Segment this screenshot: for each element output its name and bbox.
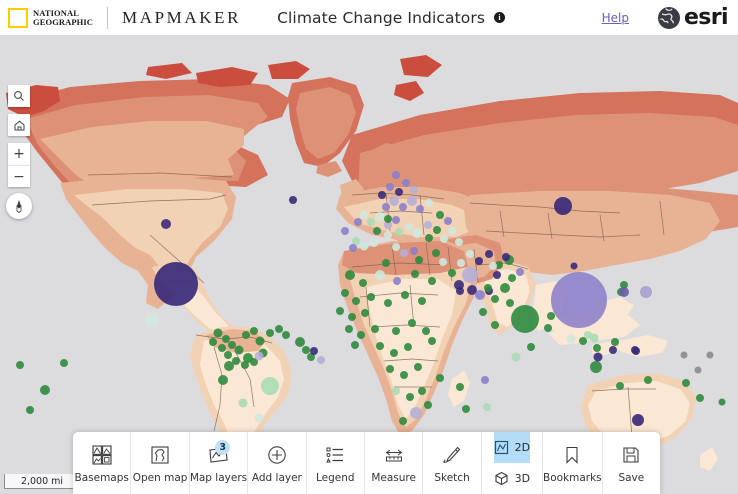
toolbar-label-sketch: Sketch [434, 472, 469, 484]
app-header: NATIONAL GEOGRAPHIC MAPMAKER Climate Cha… [0, 0, 738, 35]
toolbar-label-measure: Measure [371, 472, 416, 484]
zoom-in-button[interactable]: + [8, 143, 30, 165]
control-gap [8, 107, 30, 114]
world-map-graphic [0, 35, 738, 494]
scale-bar-label: 2,000 mi [21, 476, 63, 487]
toolbar-label-map-layers: Map layers [190, 472, 247, 484]
search-icon[interactable] [8, 85, 30, 107]
toolbar-item-save[interactable]: Save [603, 432, 660, 494]
dimension-2d-button[interactable]: 2D [494, 432, 530, 463]
toolbar-item-bookmarks[interactable]: Bookmarks [543, 432, 603, 494]
compass-needle-glyph [11, 198, 27, 214]
zoom-out-button[interactable]: − [8, 165, 30, 187]
zoom-out-label: − [13, 170, 25, 184]
search-glyph [13, 90, 25, 102]
home-glyph [13, 119, 26, 132]
zoom-controls[interactable]: + − [8, 143, 30, 187]
zoom-in-label: + [13, 147, 25, 161]
home-icon[interactable] [8, 114, 30, 136]
scale-bar: 2,000 mi [4, 474, 80, 489]
dimension-3d-button[interactable]: 3D [494, 463, 530, 494]
map-canvas[interactable]: + − 2,000 mi [0, 35, 738, 494]
dimension-3d-label: 3D [515, 472, 530, 485]
national-geographic-logo: NATIONAL GEOGRAPHIC [8, 8, 93, 28]
natgeo-line-2: GEOGRAPHIC [33, 18, 93, 27]
basemaps-icon [90, 443, 114, 467]
mapmaker-wordmark: MAPMAKER [122, 8, 241, 28]
legend-icon [323, 443, 347, 467]
sketch-icon [440, 443, 464, 467]
toolbar-label-add-layer: Add layer [252, 472, 302, 484]
help-link[interactable]: Help [602, 11, 629, 25]
toolbar-label-bookmarks: Bookmarks [543, 472, 602, 484]
toolbar-item-measure[interactable]: Measure [365, 432, 423, 494]
map-navigation-controls[interactable]: + − [8, 85, 30, 219]
save-disk-icon [619, 443, 643, 467]
toolbar-label-legend: Legend [316, 472, 355, 484]
toolbar-item-map-layers[interactable]: 3 Map layers [190, 432, 248, 494]
toolbar-label-basemaps: Basemaps [75, 472, 129, 484]
open-map-icon [148, 443, 172, 467]
page-title: Climate Change Indicators [277, 9, 485, 27]
toolbar-item-sketch[interactable]: Sketch [423, 432, 481, 494]
info-icon[interactable]: i [494, 12, 505, 23]
control-gap-2 [8, 136, 30, 143]
toolbar-item-legend[interactable]: Legend [307, 432, 365, 494]
dimension-2d-label: 2D [515, 441, 530, 454]
toolbar-label-save: Save [618, 472, 644, 484]
toolbar-item-dimension-toggle[interactable]: 2D 3D [482, 432, 543, 494]
add-layer-icon [265, 443, 289, 467]
esri-wordmark: esri [684, 5, 728, 30]
map-title-group: Climate Change Indicators i [277, 9, 505, 27]
map-2d-icon [494, 440, 510, 456]
natgeo-wordmark: NATIONAL GEOGRAPHIC [33, 9, 93, 26]
esri-logo: esri [657, 5, 728, 30]
header-divider [107, 7, 108, 29]
toolbar-label-open-map: Open map [133, 472, 188, 484]
compass-icon[interactable] [6, 193, 32, 219]
esri-globe-icon [657, 6, 681, 30]
measure-icon [382, 443, 406, 467]
toolbar-item-open-map[interactable]: Open map [131, 432, 189, 494]
cube-3d-icon [494, 471, 510, 487]
bookmark-icon [560, 443, 584, 467]
natgeo-yellow-border-icon [8, 8, 28, 28]
bottom-toolbar[interactable]: Basemaps Open map 3 Map layers [73, 432, 660, 494]
toolbar-item-add-layer[interactable]: Add layer [248, 432, 306, 494]
toolbar-item-basemaps[interactable]: Basemaps [73, 432, 131, 494]
